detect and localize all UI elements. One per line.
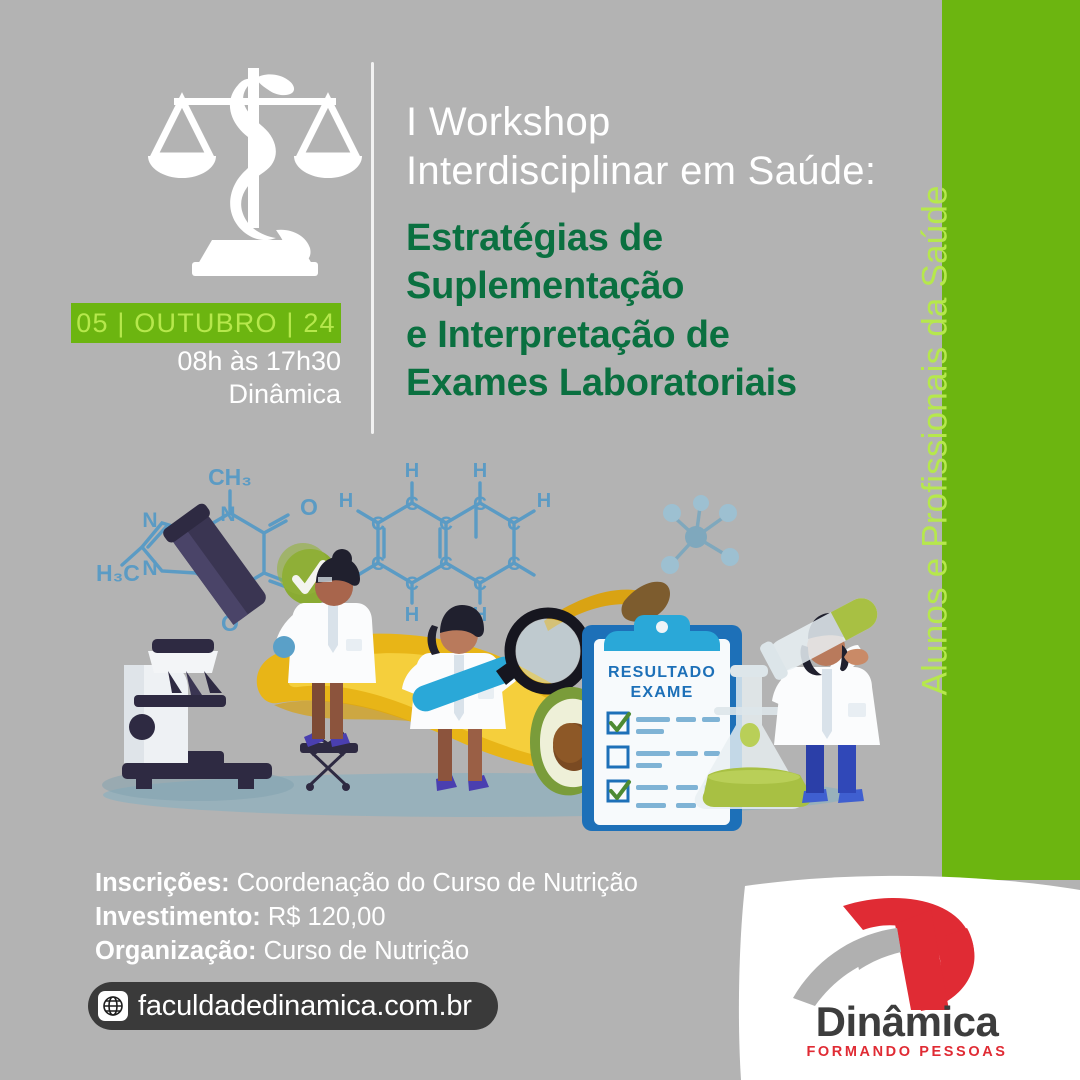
website-url[interactable]: faculdadedinamica.com.br (138, 990, 472, 1023)
label-h-a: H (405, 460, 419, 482)
audience-band-text: Alunos e Profissionais da Saúde Público: (942, 0, 1080, 880)
dinamica-logo-card: Dinâmica FORMANDO PESSOAS (735, 868, 1080, 1080)
label-c-b: C (371, 514, 385, 535)
organization-label: Organização: (95, 937, 257, 965)
event-venue: Dinâmica (71, 378, 341, 411)
workshop-title-line1: I Workshop (406, 98, 926, 147)
label-c-c: C (371, 554, 385, 575)
info-block: Inscrições: Coordenação do Curso de Nutr… (95, 866, 735, 968)
subtitle-line2: Suplementação (406, 262, 926, 311)
label-c-g: C (473, 494, 487, 515)
organization-value: Curso de Nutrição (264, 937, 470, 965)
event-time-block: 08h às 17h30 Dinâmica (71, 345, 341, 412)
molecule-cluster-icon (661, 495, 739, 574)
poster-canvas: Alunos e Profissionais da Saúde Público: (0, 0, 1080, 1080)
label-o-top: O (300, 494, 318, 520)
investment-value: R$ 120,00 (268, 903, 386, 931)
stool-foot-right (342, 783, 350, 791)
header-divider (371, 62, 374, 434)
label-c-d: C (405, 574, 419, 595)
website-pill[interactable]: faculdadedinamica.com.br (88, 982, 498, 1030)
label-c-e: C (439, 514, 453, 535)
info-row-organization: Organização: Curso de Nutrição (95, 934, 735, 968)
benzene-rings-diagram (358, 483, 534, 603)
event-time: 08h às 17h30 (71, 345, 341, 378)
info-row-investment: Investimento: R$ 120,00 (95, 900, 735, 934)
label-n-4: N (142, 557, 157, 580)
label-h-e: H (405, 604, 419, 626)
date-badge: 05 | OUTUBRO | 24 (71, 303, 341, 343)
logo-name: Dinâmica (816, 998, 1000, 1045)
registration-value: Coordenação do Curso de Nutrição (237, 869, 638, 897)
clipboard-title-line1: RESULTADO (608, 664, 716, 681)
clipboard-title-line2: EXAME (631, 684, 694, 701)
label-ch3-top: CH₃ (208, 464, 252, 490)
workshop-title-line2: Interdisciplinar em Saúde: (406, 147, 926, 196)
label-c-i: C (507, 554, 521, 575)
lab-nutrition-illustration: CH₃ O CH₃ O H₃C N N N N H H H H (78, 455, 888, 855)
globe-icon (98, 991, 128, 1021)
registration-label: Inscrições: (95, 869, 230, 897)
label-c-j: C (473, 574, 487, 595)
label-h-c: H (339, 490, 353, 512)
date-badge-label: 05 | OUTUBRO | 24 (76, 308, 336, 339)
label-c-a: C (405, 494, 419, 515)
info-row-registration: Inscrições: Coordenação do Curso de Nutr… (95, 866, 735, 900)
workshop-subtitle: Estratégias de Suplementação e Interpret… (406, 214, 926, 409)
label-h-g: H (537, 490, 551, 512)
header-text-block: I Workshop Interdisciplinar em Saúde: Es… (406, 98, 926, 408)
label-h-b: H (473, 460, 487, 482)
label-c-h: C (507, 514, 521, 535)
subtitle-line3: e Interpretação de (406, 311, 926, 360)
label-n-3: N (142, 509, 157, 532)
label-h3c-left: H₃C (96, 560, 140, 586)
logo-tagline: FORMANDO PESSOAS (806, 1044, 1007, 1060)
scales-caduceus-icon (146, 52, 364, 292)
subtitle-line1: Estratégias de (406, 214, 926, 263)
label-n-1: N (220, 503, 235, 526)
subtitle-line4: Exames Laboratoriais (406, 359, 926, 408)
dinamica-logo: Dinâmica FORMANDO PESSOAS (735, 868, 1080, 1080)
label-c-f: C (439, 554, 453, 575)
stool-foot-left (306, 783, 314, 791)
investment-label: Investimento: (95, 903, 261, 931)
